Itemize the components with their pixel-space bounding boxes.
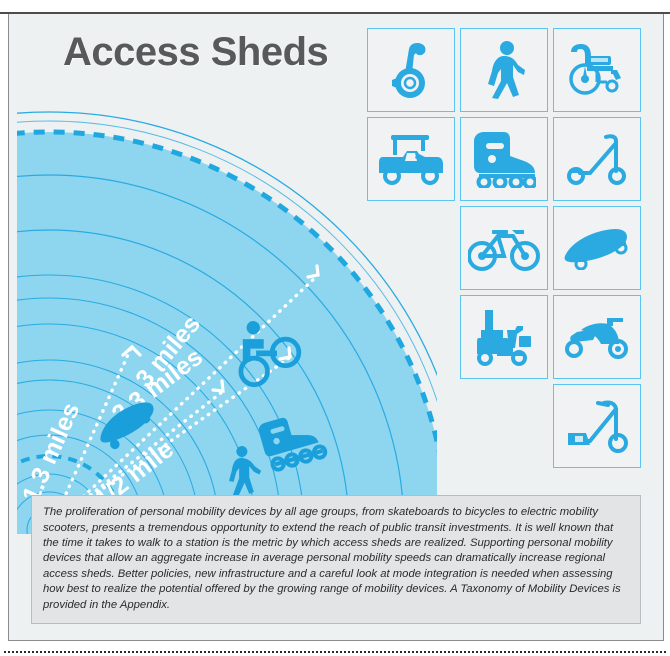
wheelchair-icon [567,42,627,98]
pedestrian-icon-cell[interactable] [460,28,548,112]
caption-text: The proliferation of personal mobility d… [31,495,641,624]
segway-icon-cell[interactable] [367,28,455,112]
mobility-scooter-icon-cell[interactable] [460,295,548,379]
golf-cart-icon-cell[interactable] [367,117,455,201]
infographic-page: Access Sheds [0,0,670,656]
inline-skate-icon [472,130,536,188]
page-title: Access Sheds [63,30,328,75]
skateboard-icon-cell[interactable] [553,206,641,290]
skateboard-icon [563,226,631,270]
moped-icon-cell[interactable] [553,295,641,379]
pedestrian-icon [483,41,525,99]
electric-scooter-icon-cell[interactable] [553,384,641,468]
infographic-card: Access Sheds [8,14,664,641]
bottom-rule [4,651,666,653]
kick-scooter-icon-cell[interactable] [553,117,641,201]
segway-icon [383,41,439,99]
golf-cart-icon [377,133,445,185]
electric-scooter-icon [564,397,630,455]
moped-icon [563,314,631,360]
kick-scooter-icon [566,131,628,187]
bicycle-icon [468,224,540,272]
bicycle-icon-cell[interactable] [460,206,548,290]
inline-skate-icon-cell[interactable] [460,117,548,201]
wheelchair-icon-cell[interactable] [553,28,641,112]
mobility-device-icon-grid [367,28,657,508]
mobility-scooter-icon [471,308,537,366]
